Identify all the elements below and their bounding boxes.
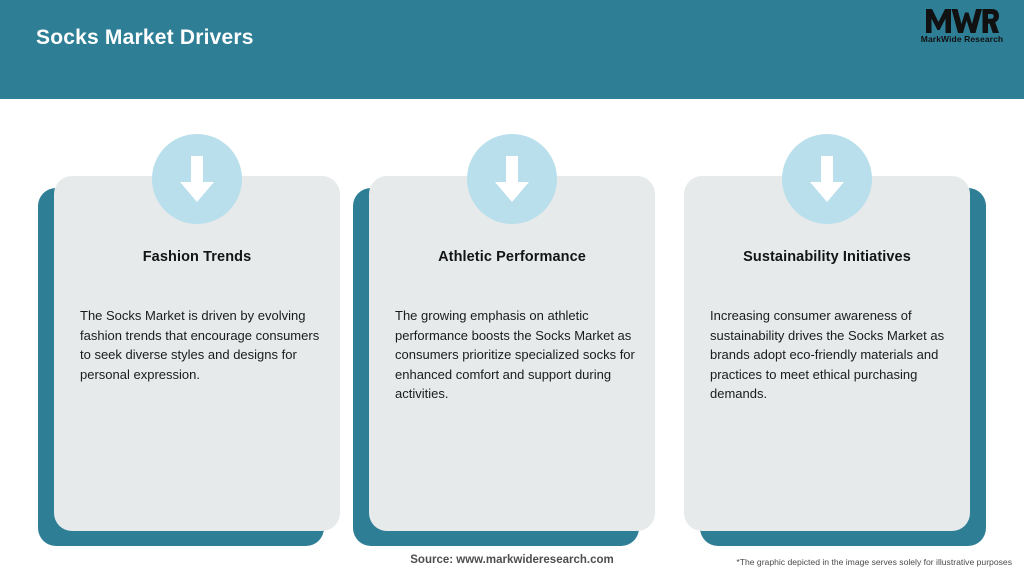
brand-logo: MarkWide Research Inspiring Growth — [914, 7, 1010, 57]
driver-card-athletic-performance: Athletic Performance The growing emphasi… — [369, 176, 655, 536]
logo-tagline: Inspiring Growth — [914, 44, 1010, 53]
card-heading: Athletic Performance — [383, 249, 641, 265]
arrow-down-icon — [782, 134, 872, 224]
driver-card-sustainability-initiatives: Sustainability Initiatives Increasing co… — [684, 176, 970, 536]
footer-disclaimer-label: *The graphic depicted in the image serve… — [736, 557, 1012, 567]
page-title: Socks Market Drivers — [36, 26, 254, 50]
drivers-card-area: Fashion Trends The Socks Market is drive… — [0, 99, 1024, 539]
card-description: The growing emphasis on athletic perform… — [395, 306, 637, 404]
card-body: Fashion Trends The Socks Market is drive… — [54, 176, 340, 531]
arrow-down-icon — [152, 134, 242, 224]
mwr-monogram-icon — [914, 7, 1010, 34]
card-description: The Socks Market is driven by evolving f… — [80, 306, 322, 384]
logo-company-name: MarkWide Research — [914, 34, 1010, 44]
driver-card-fashion-trends: Fashion Trends The Socks Market is drive… — [54, 176, 340, 536]
card-description: Increasing consumer awareness of sustain… — [710, 306, 952, 404]
card-body: Athletic Performance The growing emphasi… — [369, 176, 655, 531]
header-band: Socks Market Drivers MarkWide Research I… — [0, 0, 1024, 99]
card-body: Sustainability Initiatives Increasing co… — [684, 176, 970, 531]
card-heading: Fashion Trends — [68, 249, 326, 265]
arrow-down-icon — [467, 134, 557, 224]
card-heading: Sustainability Initiatives — [698, 249, 956, 265]
